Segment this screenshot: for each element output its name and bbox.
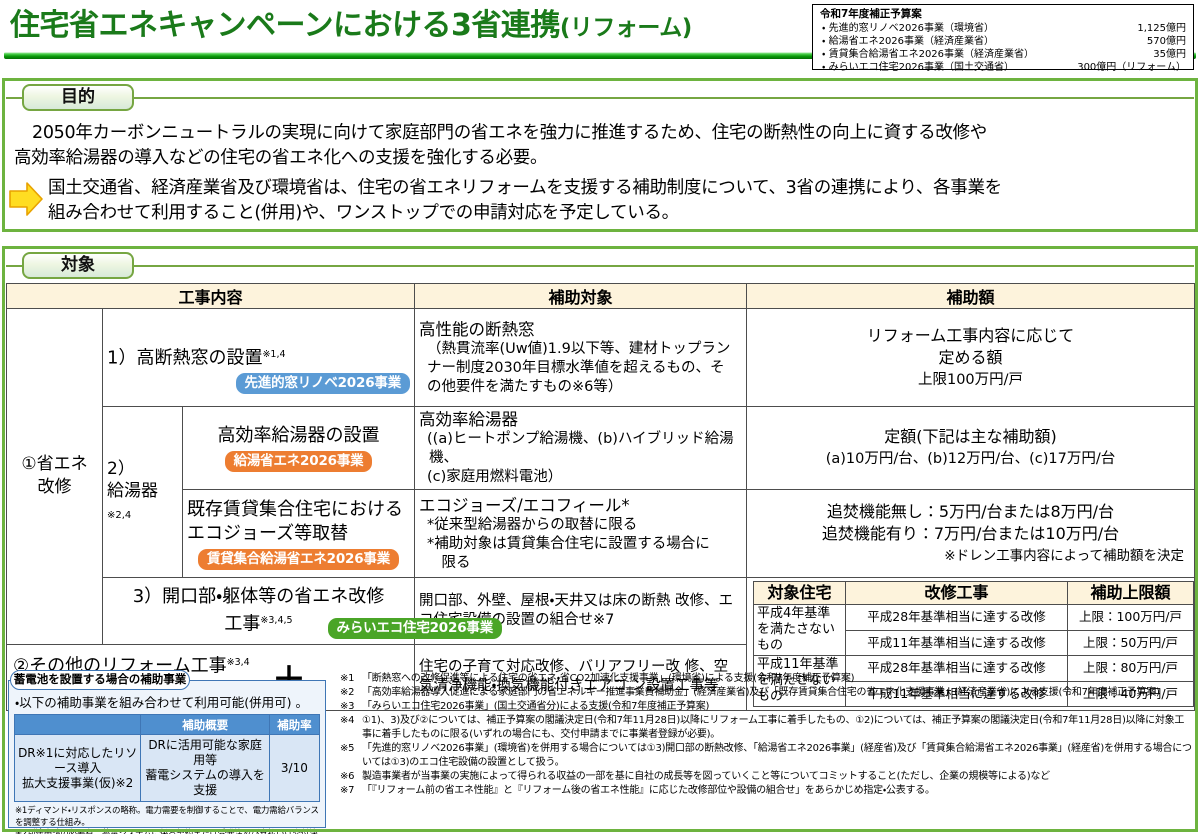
footnote-mark: ※5 xyxy=(340,742,362,769)
work-title: 高効率給湯器の設置 xyxy=(218,425,380,446)
inner-table-row: 平成4年基準を満たさないもの 平成28年基準相当に達する改修 上限：100万円/… xyxy=(754,605,1194,631)
footnote-row: ※5 「先進的窓リノベ2026事業」(環境省)を併用する場合については①3)開口… xyxy=(340,742,1192,769)
battery-note: ※1ディマンド・リスポンスの略称。電力需要を制御することで、電力需給バランスを調… xyxy=(15,806,320,829)
program-pill-kyuto-shoene: 給湯省エネ2026事業 xyxy=(225,451,373,472)
subgroup-cell-water-heater: 2） 給湯器 ※2,4 xyxy=(103,407,183,578)
battery-summary-line1: DRに活用可能な家庭用等 xyxy=(148,738,262,767)
column-header-object: 補助対象 xyxy=(415,284,747,309)
object-line: （熱貫流率(Uw値)1.9以下等、建材トップラン xyxy=(419,340,742,359)
inner-cell-work: 平成28年基準相当に達する改修 xyxy=(846,605,1068,631)
amount-line: 追焚機能無し：5万円/台または8万円/台 xyxy=(751,501,1190,523)
program-pill-row: 給湯省エネ2026事業 xyxy=(187,449,410,472)
battery-col-header-name xyxy=(15,715,141,735)
footnote-text: 「先進的窓リノベ2026事業」(環境省)を併用する場合については①3)開口部の断… xyxy=(362,742,1192,769)
table-row: 2） 給湯器 ※2,4 高効率給湯器の設置 給湯省エネ2026事業 高効率給湯器… xyxy=(7,407,1195,490)
arrow-right-icon xyxy=(8,180,44,218)
inner-cell-cap: 上限：50万円/戸 xyxy=(1068,630,1194,656)
amount-line: 定める額 xyxy=(751,347,1190,369)
object-line: の他要件を満たすもの※6等） xyxy=(419,378,742,397)
footnote-row: ※7 「『リフォーム前の省エネ性能』と『リフォーム後の省エネ性能』に応じた改修部… xyxy=(340,784,1192,798)
column-header-amount: 補助額 xyxy=(747,284,1195,309)
page-title: 住宅省エネキャンペーンにおける3省連携(リフォーム) xyxy=(10,4,810,50)
battery-tab: 蓄電池を設置する場合の補助事業 xyxy=(10,670,190,690)
document-page: 住宅省エネキャンペーンにおける3省連携(リフォーム) 令和7年度補正予算案 ・ … xyxy=(0,0,1200,834)
budget-item: ・ みらいエコ住宅2026事業（国土交通省） 300億円（リフォーム） xyxy=(820,61,1186,74)
column-header-work: 工事内容 xyxy=(7,284,415,309)
amount-line: (a)10万円/台、(b)12万円/台、(c)17万円/台 xyxy=(751,448,1190,470)
inner-col-header-work: 改修工事 xyxy=(846,582,1068,605)
program-pill-row: 賃貸集合給湯省エネ2026事業 xyxy=(187,547,410,570)
object-cell-high-perf-window: 高性能の断熱窓 （熱貫流率(Uw値)1.9以下等、建材トップラン ナー制度203… xyxy=(415,309,747,407)
work-cell-rental-eco-jaws: 既存賃貸集合住宅におけるエコジョーズ等取替 賃貸集合給湯省エネ2026事業 xyxy=(183,490,415,578)
object-line: 開口部、外壁、屋根・天井又は床の断熱 xyxy=(419,593,670,609)
section-tab-purpose: 目的 xyxy=(22,84,134,111)
battery-tab-label: 蓄電池を設置する場合の補助事業 xyxy=(11,671,189,688)
object-line: (c)家庭用燃料電池） xyxy=(419,468,742,487)
budget-item: ・ 給湯省エネ2026事業（経済産業省） 570億円 xyxy=(820,35,1186,48)
budget-item-name: ・ みらいエコ住宅2026事業（国土交通省） xyxy=(820,61,1014,74)
subsidy-table: 工事内容 補助対象 補助額 ①省エネ 改修 1）高断熱窓の設置※1,4 先進的窓… xyxy=(6,283,1195,711)
battery-table-row: DR※1に対応したリソース導入 拡大支援事業(仮)※2 DRに活用可能な家庭用等… xyxy=(15,735,320,802)
inner-col-header-house: 対象住宅 xyxy=(754,582,846,605)
budget-heading: 令和7年度補正予算案 xyxy=(820,8,1186,21)
battery-note: ※2別途申請の必要有。蓄電システムに係る契約または受発注及び支払いは交付決定前の… xyxy=(15,829,320,834)
footnote-mark: ※1 xyxy=(340,672,362,686)
budget-item-amount: 1,125億円 xyxy=(1137,22,1186,35)
budget-item-amount: 300億円（リフォーム） xyxy=(1077,61,1186,74)
work-title: 1）高断熱窓の設置 xyxy=(107,347,262,368)
program-pill-mirai-eco: みらいエコ住宅2026事業 xyxy=(328,618,502,639)
budget-item-amount: 570億円 xyxy=(1147,35,1186,48)
battery-col-header-summary: 補助概要 xyxy=(141,715,269,735)
battery-program-name-line2: 拡大支援事業(仮)※2 xyxy=(22,776,133,790)
object-head: 高効率給湯器 xyxy=(419,409,742,430)
amount-line: ※ドレン工事内容によって補助額を決定 xyxy=(751,545,1190,567)
footnote-row: ※6 製造事業者が当事業の実施によって得られる収益の一部を基に自社の成長等を図っ… xyxy=(340,770,1192,784)
footnote-mark: ※4 xyxy=(340,714,362,741)
object-line: 限る xyxy=(419,554,742,573)
purpose-line-2: 高効率給湯器の導入などの住宅の省エネ化への支援を強化する必要。 xyxy=(14,148,547,168)
section-tab-purpose-label: 目的 xyxy=(24,86,132,109)
work-cell-high-insulation-window: 1）高断熱窓の設置※1,4 先進的窓リノベ2026事業 xyxy=(103,309,415,407)
inner-col-header-cap: 補助上限額 xyxy=(1068,582,1194,605)
program-pill-row: 先進的窓リノベ2026事業 xyxy=(107,371,410,394)
footnote-text: ①1)、3)及び②については、補正予算案の閣議決定日(令和7年11月28日)以降… xyxy=(362,714,1192,741)
footnote-text: 「断熱窓への改修促進等による住宅の省エネ・省CO2加速化支援事業」(環境省)によ… xyxy=(362,672,1192,686)
target-heading-rule xyxy=(6,265,1194,267)
footnote-mark: ※2 xyxy=(340,686,362,700)
object-line: ナー制度2030年目標水準値を超えるもの、そ xyxy=(419,359,742,378)
amount-line: 追焚機能有り：7万円/台または10万円/台 xyxy=(751,523,1190,545)
category2-ref: ※3,4 xyxy=(227,657,250,668)
work-cell-high-efficiency-heater: 高効率給湯器の設置 給湯省エネ2026事業 xyxy=(183,407,415,490)
object-cell-high-efficiency-heater: 高効率給湯器 ((a)ヒートポンプ給湯機、(b)ハイブリッド給湯機、 (c)家庭… xyxy=(415,407,747,490)
battery-body: ・以下の補助事業を組み合わせて利用可能(併用可) 。 補助概要 補助率 DR※1… xyxy=(8,680,326,828)
inner-cell-house: 平成4年基準を満たさないもの xyxy=(754,605,846,656)
amount-cell-heater: 定額(下記は主な補助額) (a)10万円/台、(b)12万円/台、(c)17万円… xyxy=(747,407,1195,490)
battery-col-header-rate: 補助率 xyxy=(269,715,319,735)
work-cell-envelope-retrofit: 3）開口部・躯体等の省エネ改修工事※3,4,5 みらいエコ住宅2026事業 xyxy=(103,578,415,645)
work-ref: ※1,4 xyxy=(262,349,285,360)
inner-cell-cap: 上限：100万円/戸 xyxy=(1068,605,1194,631)
target-heading-row: 対象 xyxy=(0,252,1200,282)
section-tab-target: 対象 xyxy=(22,252,134,279)
budget-box: 令和7年度補正予算案 ・ 先進的窓リノベ2026事業（環境省） 1,125億円 … xyxy=(812,4,1194,70)
purpose-line-4: 組み合わせて利用すること(併用)や、ワンストップでの申請対応を予定している。 xyxy=(48,201,1188,226)
category-label-line2: 改修 xyxy=(38,477,72,497)
object-line: ((a)ヒートポンプ給湯機、(b)ハイブリッド給湯機、 xyxy=(419,430,742,468)
footnotes-block: ※1 「断熱窓への改修促進等による住宅の省エネ・省CO2加速化支援事業」(環境省… xyxy=(340,672,1192,798)
object-head: エコジョーズ/エコフィール* xyxy=(419,495,742,516)
battery-header-row: 補助概要 補助率 xyxy=(15,715,320,735)
amount-cell-window: リフォーム工事内容に応じて 定める額 上限100万円/戸 xyxy=(747,309,1195,407)
title-block: 住宅省エネキャンペーンにおける3省連携(リフォーム) xyxy=(10,4,810,52)
footnote-row: ※3 「みらいエコ住宅2026事業」(国土交通省分)による支援(令和7年度補正予… xyxy=(340,700,1192,714)
footnote-text: 「高効率給湯器導入促進による家庭部門の省エネルギー推進事業費補助金」(経済産業省… xyxy=(362,686,1192,700)
table-row: 3）開口部・躯体等の省エネ改修工事※3,4,5 みらいエコ住宅2026事業 開口… xyxy=(7,578,1195,645)
budget-item-name: ・ 賃貸集合給湯省エネ2026事業（経済産業省） xyxy=(820,48,1034,61)
footnote-row: ※2 「高効率給湯器導入促進による家庭部門の省エネルギー推進事業費補助金」(経済… xyxy=(340,686,1192,700)
page-title-main: 住宅省エネキャンペーンにおける3省連携 xyxy=(10,8,560,43)
category-cell-energy-saving: ①省エネ 改修 xyxy=(7,309,103,645)
inner-header-row: 対象住宅 改修工事 補助上限額 xyxy=(754,582,1194,605)
table-row: ①省エネ 改修 1）高断熱窓の設置※1,4 先進的窓リノベ2026事業 高性能の… xyxy=(7,309,1195,407)
amount-line: 上限100万円/戸 xyxy=(751,369,1190,391)
battery-notes: ※1ディマンド・リスポンスの略称。電力需要を制御することで、電力需給バランスを調… xyxy=(15,806,320,834)
battery-subsidy-box: ・以下の補助事業を組み合わせて利用可能(併用可) 。 補助概要 補助率 DR※1… xyxy=(8,670,326,828)
footnote-mark: ※3 xyxy=(340,700,362,714)
budget-item: ・ 先進的窓リノベ2026事業（環境省） 1,125億円 xyxy=(820,22,1186,35)
budget-item: ・ 賃貸集合給湯省エネ2026事業（経済産業省） 35億円 xyxy=(820,48,1186,61)
purpose-line-3: 国土交通省、経済産業省及び環境省は、住宅の省エネリフォームを支援する補助制度につ… xyxy=(48,176,1188,201)
section-tab-target-label: 対象 xyxy=(24,254,132,277)
inner-cell-work: 平成11年基準相当に達する改修 xyxy=(846,630,1068,656)
purpose-heading-rule xyxy=(6,97,1194,99)
object-head: 高性能の断熱窓 xyxy=(419,319,742,340)
object-line: *従来型給湯器からの取替に限る xyxy=(419,516,742,535)
footnote-mark: ※6 xyxy=(340,770,362,784)
battery-program-summary: DRに活用可能な家庭用等 蓄電システムの導入を支援 xyxy=(141,735,269,802)
program-pill-mado-renove: 先進的窓リノベ2026事業 xyxy=(236,373,410,394)
footnote-row: ※4 ①1)、3)及び②については、補正予算案の閣議決定日(令和7年11月28日… xyxy=(340,714,1192,741)
battery-table: 補助概要 補助率 DR※1に対応したリソース導入 拡大支援事業(仮)※2 DRに… xyxy=(14,714,320,802)
subgroup-ref: ※2,4 xyxy=(107,510,131,521)
subgroup-label-line2: 給湯器 xyxy=(107,481,158,501)
amount-line: リフォーム工事内容に応じて xyxy=(751,325,1190,347)
footnote-text: 「みらいエコ住宅2026事業」(国土交通省分)による支援(令和7年度補正予算案) xyxy=(362,700,1192,714)
table-header-row: 工事内容 補助対象 補助額 xyxy=(7,284,1195,309)
purpose-paragraph-2: 国土交通省、経済産業省及び環境省は、住宅の省エネリフォームを支援する補助制度につ… xyxy=(48,176,1188,226)
program-pill-chintai-kyuto: 賃貸集合給湯省エネ2026事業 xyxy=(198,549,399,570)
battery-program-name: DR※1に対応したリソース導入 拡大支援事業(仮)※2 xyxy=(15,735,141,802)
battery-lead-text: ・以下の補助事業を組み合わせて利用可能(併用可) 。 xyxy=(15,695,320,711)
footnote-text: 製造事業者が当事業の実施によって得られる収益の一部を基に自社の成長等を図っていく… xyxy=(362,770,1192,784)
battery-summary-line2: 蓄電システムの導入を支援 xyxy=(145,768,265,797)
subgroup-label-line1: 2） xyxy=(107,459,135,479)
object-line: *補助対象は賃貸集合住宅に設置する場合に xyxy=(419,535,742,554)
table-row: 既存賃貸集合住宅におけるエコジョーズ等取替 賃貸集合給湯省エネ2026事業 エコ… xyxy=(7,490,1195,578)
budget-item-name: ・ 先進的窓リノベ2026事業（環境省） xyxy=(820,22,994,35)
purpose-heading-row: 目的 xyxy=(0,84,1200,114)
footnote-row: ※1 「断熱窓への改修促進等による住宅の省エネ・省CO2加速化支援事業」(環境省… xyxy=(340,672,1192,686)
battery-subsidy-rate: 3/10 xyxy=(269,735,319,802)
purpose-paragraph-1: 2050年カーボンニュートラルの実現に向けて家庭部門の省エネを強力に推進するため… xyxy=(14,121,1184,171)
amount-line: 定額(下記は主な補助額) xyxy=(751,426,1190,448)
category-label-line1: ①省エネ xyxy=(21,454,87,474)
amount-cell-eco-jaws: 追焚機能無し：5万円/台または8万円/台 追焚機能有り：7万円/台または10万円… xyxy=(747,490,1195,578)
work-title: 既存賃貸集合住宅におけるエコジョーズ等取替 xyxy=(187,498,410,546)
work-ref: ※3,4,5 xyxy=(260,615,292,626)
purpose-line-1: 2050年カーボンニュートラルの実現に向けて家庭部門の省エネを強力に推進するため… xyxy=(14,121,1184,146)
footnote-text: 「『リフォーム前の省エネ性能』と『リフォーム後の省エネ性能』に応じた改修部位や設… xyxy=(362,784,1192,798)
page-title-suffix: (リフォーム) xyxy=(560,15,692,41)
footnote-mark: ※7 xyxy=(340,784,362,798)
object-cell-eco-jaws: エコジョーズ/エコフィール* *従来型給湯器からの取替に限る *補助対象は賃貸集… xyxy=(415,490,747,578)
budget-item-name: ・ 給湯省エネ2026事業（経済産業省） xyxy=(820,35,994,48)
budget-item-amount: 35億円 xyxy=(1153,48,1186,61)
battery-program-name-line1: DR※1に対応したリソース導入 xyxy=(18,746,137,775)
